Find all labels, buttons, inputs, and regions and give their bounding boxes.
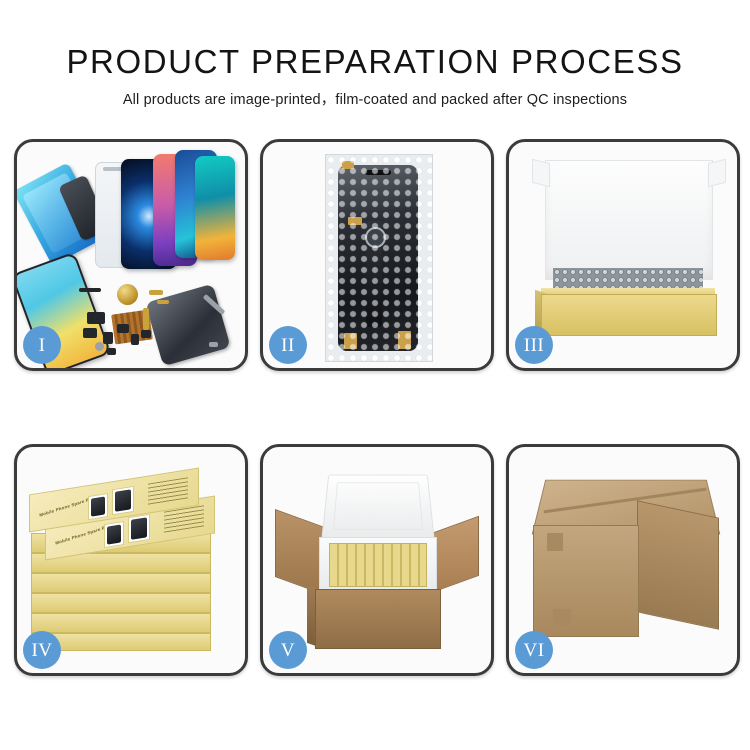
page-title: PRODUCT PREPARATION PROCESS	[0, 0, 750, 80]
process-step-6[interactable]: VI	[506, 444, 740, 676]
bubble-wrap-bag	[325, 154, 433, 362]
phone-notch	[365, 170, 391, 175]
white-box-lid	[545, 160, 713, 280]
foam-box-lid	[321, 475, 434, 540]
stacked-box	[31, 573, 211, 593]
step-badge-5: V	[269, 631, 307, 669]
tape-strip	[344, 333, 357, 349]
small-part	[107, 348, 116, 355]
speaker-coin-part	[117, 284, 138, 305]
yellow-box-front	[541, 294, 717, 336]
step-badge-4: IV	[23, 631, 61, 669]
flex-cable-part	[143, 308, 149, 330]
box-spec-lines	[148, 477, 188, 505]
step-panel: Mobile Phone Spare Parts Mobile Phone Sp…	[14, 444, 248, 676]
header: PRODUCT PREPARATION PROCESS All products…	[0, 0, 750, 109]
small-part	[209, 342, 218, 347]
carton-tape-lower	[553, 609, 571, 625]
phone-teal-gradient	[195, 156, 235, 260]
tape-strip	[342, 161, 354, 169]
step-panel: V	[260, 444, 494, 676]
process-step-4[interactable]: Mobile Phone Spare Parts Mobile Phone Sp…	[14, 444, 248, 676]
process-step-2[interactable]: II	[260, 139, 494, 371]
box-window	[112, 486, 134, 515]
step-badge-3: III	[515, 326, 553, 364]
tape-strip	[348, 217, 362, 225]
small-part	[103, 332, 113, 344]
small-part	[141, 330, 151, 338]
step-panel: I	[14, 139, 248, 371]
phone-back-housing	[145, 284, 230, 367]
small-part	[79, 288, 101, 292]
process-step-1[interactable]: I	[14, 139, 248, 371]
box-window	[88, 493, 108, 520]
stacked-box	[31, 613, 211, 633]
small-part	[149, 290, 163, 295]
box-window	[128, 514, 150, 543]
process-step-3[interactable]: III	[506, 139, 740, 371]
step-badge-1: I	[23, 326, 61, 364]
page-subtitle: All products are image-printed，film-coat…	[0, 80, 750, 109]
step-panel: II	[260, 139, 494, 371]
product-preparation-infographic: PRODUCT PREPARATION PROCESS All products…	[0, 0, 750, 750]
step-badge-6: VI	[515, 631, 553, 669]
yellow-boxes-inside	[329, 543, 427, 587]
small-part	[95, 342, 104, 351]
small-part	[83, 328, 97, 338]
small-part	[87, 312, 105, 324]
small-part	[157, 300, 169, 304]
small-part	[131, 334, 139, 345]
lcd-screen-assembly	[338, 165, 418, 351]
step-panel: III	[506, 139, 740, 371]
tape-strip	[398, 331, 411, 349]
small-part	[117, 324, 129, 333]
box-window	[104, 521, 124, 548]
process-step-5[interactable]: V	[260, 444, 494, 676]
process-step-grid: I	[14, 139, 736, 676]
camera-ring	[365, 227, 386, 248]
carton-tape-upper	[547, 533, 563, 551]
stacked-box	[31, 593, 211, 613]
carton-front	[315, 589, 441, 649]
step-panel: VI	[506, 444, 740, 676]
step-badge-2: II	[269, 326, 307, 364]
carton-side-face	[637, 500, 719, 629]
